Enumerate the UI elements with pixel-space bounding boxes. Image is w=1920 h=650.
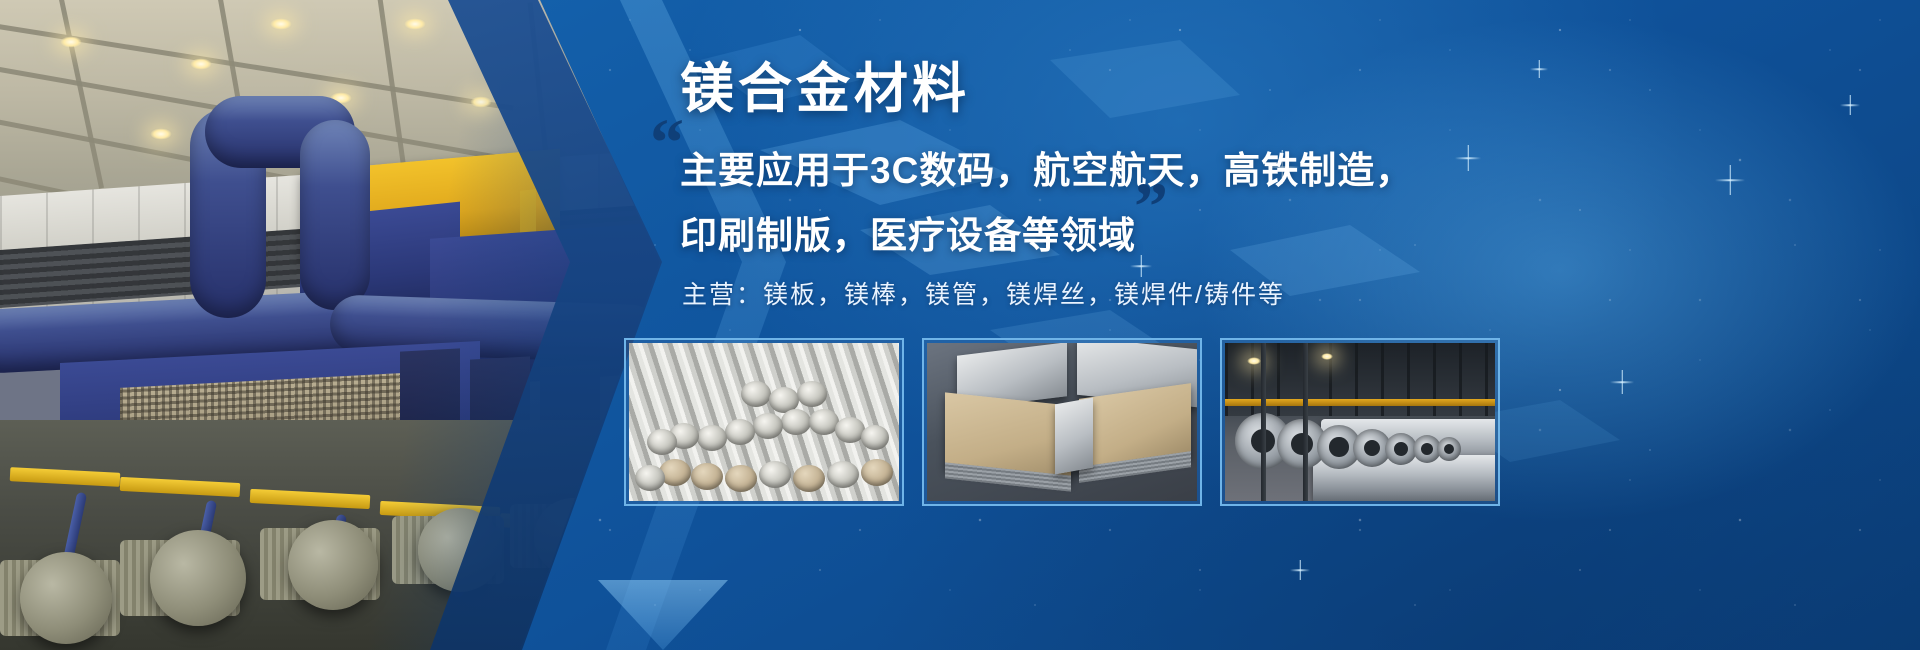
warehouse-lamp	[1321, 353, 1333, 360]
magnesium-coils-thumbnail[interactable]	[1220, 338, 1500, 506]
plate-stack	[1055, 398, 1093, 475]
product-banner: 镁合金材料 “ 主要应用于3C数码，航空航天，高铁制造， 印刷制版，医疗设备等领…	[0, 0, 1920, 650]
bar-end-faces	[629, 343, 899, 501]
main-products-line: 主营：镁板，镁棒，镁管，镁焊丝，镁焊件/铸件等	[682, 275, 1285, 311]
subtitle-line-2: 印刷制版，医疗设备等领域	[680, 205, 1136, 259]
page-title: 镁合金材料	[680, 44, 970, 123]
product-thumbnail-row	[624, 338, 1500, 506]
magnesium-bars-thumbnail[interactable]	[624, 338, 904, 506]
quote-close-icon: ”	[1134, 172, 1168, 240]
quote-open-icon: “	[650, 108, 684, 176]
subtitle-line-1: 主要应用于3C数码，航空航天，高铁制造，	[680, 140, 1413, 194]
magnesium-plates-thumbnail[interactable]	[922, 338, 1202, 506]
banner-content: 镁合金材料 “ 主要应用于3C数码，航空航天，高铁制造， 印刷制版，医疗设备等领…	[672, 0, 1852, 650]
coil-end-ring	[1437, 437, 1461, 461]
warehouse-lamp	[1247, 357, 1261, 365]
